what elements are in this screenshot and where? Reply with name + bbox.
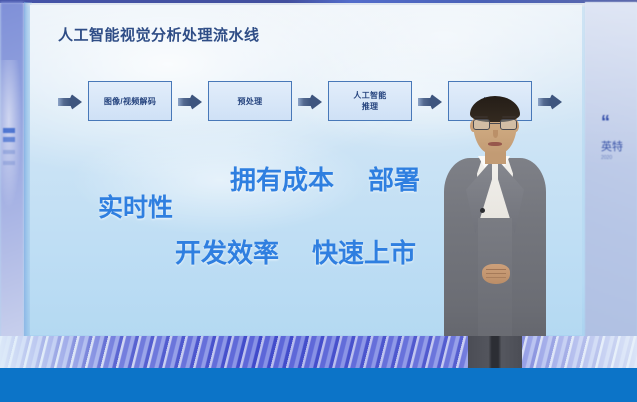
right-banner-sheen: [585, 2, 637, 368]
keyword-realtime: 实时性: [98, 188, 173, 224]
flow-step-2-label: 预处理: [238, 96, 263, 107]
keyword-dev-efficiency: 开发效率: [175, 233, 279, 270]
mouth: [488, 142, 502, 146]
hand-detail: [486, 269, 506, 270]
texture-band-fade: [0, 336, 637, 368]
presenter-lower-body: [468, 336, 522, 368]
video-frame: “ 英特 2020 人工智能视觉分析处理流水线 图像/视频解码 预处理: [0, 0, 637, 402]
nose: [493, 130, 498, 138]
left-panel-text-blur: [3, 128, 15, 168]
keyword-deployment: 部署: [368, 160, 420, 197]
flow-arrow-3: [298, 93, 322, 111]
slide-title: 人工智能视觉分析处理流水线: [58, 24, 260, 45]
keyword-time-to-market: 快速上市: [312, 233, 416, 270]
eyebrow-right: [502, 116, 516, 118]
presenter: [440, 96, 548, 368]
flow-step-1: 图像/视频解码: [88, 81, 172, 121]
flow-arrow-1: [58, 93, 82, 111]
right-banner-subtitle: 英特: [601, 138, 633, 154]
glasses-bridge: [490, 123, 500, 124]
flow-step-3: 人工智能推理: [328, 81, 412, 121]
flow-step-2: 预处理: [208, 81, 292, 121]
lens-left: [473, 119, 490, 130]
glasses-icon: [472, 119, 518, 130]
flow-arrow-2: [178, 93, 202, 111]
right-banner-quote: “: [601, 112, 635, 133]
arrow-head: [70, 93, 82, 111]
flow-arrow-4: [418, 93, 442, 111]
keyword-tco: 拥有成本: [230, 160, 334, 197]
flow-step-3-label: 人工智能推理: [353, 90, 386, 112]
eyebrow-left: [474, 116, 488, 118]
flow-step-1-label: 图像/视频解码: [104, 96, 156, 107]
arrow-head: [310, 93, 322, 111]
arrow-head: [550, 93, 562, 111]
bottom-blue-bar: [0, 368, 637, 402]
arrow-head: [190, 93, 202, 111]
clasped-hands: [482, 264, 510, 284]
lapel-microphone-icon: [480, 208, 485, 213]
right-banner-date: 2020: [601, 155, 633, 161]
lens-right: [500, 119, 517, 130]
top-edge-strip: [0, 0, 637, 3]
